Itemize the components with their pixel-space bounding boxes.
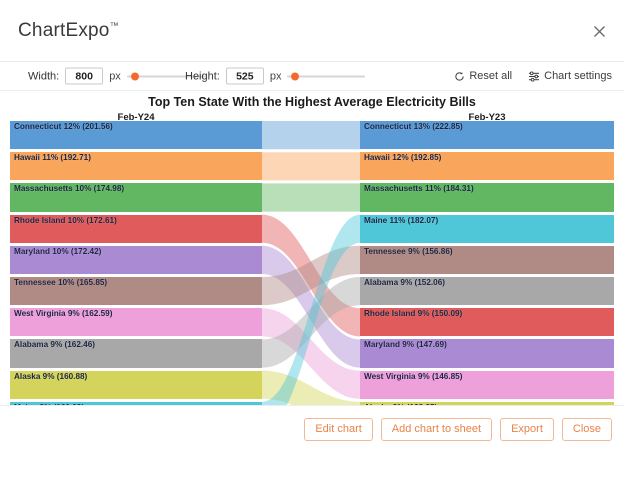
sankey-link-hawaii[interactable]: [262, 152, 360, 180]
sankey-node-label: Hawaii 12% (192.85): [364, 153, 441, 162]
edit-chart-button[interactable]: Edit chart: [304, 418, 372, 441]
height-input[interactable]: [226, 68, 264, 85]
dialog-footer: Edit chartAdd chart to sheetExportClose: [0, 405, 624, 480]
chart-canvas: Top Ten State With the Highest Average E…: [0, 91, 624, 405]
sankey-node-label: Alaska 9% (160.88): [14, 372, 87, 381]
reset-all-label: Reset all: [469, 70, 512, 82]
sankey-link-massachusetts[interactable]: [262, 183, 360, 211]
size-toolbar: Width: px Height: px: [0, 62, 624, 91]
sankey-node-label: Tennessee 10% (165.85): [14, 278, 107, 287]
chart-settings-button[interactable]: Chart settings: [528, 70, 612, 82]
sankey-link-connecticut[interactable]: [262, 121, 360, 149]
sankey-node-right-hawaii[interactable]: Hawaii 12% (192.85): [360, 152, 614, 180]
sankey-node-left-rhode-island[interactable]: Rhode Island 10% (172.61): [10, 215, 262, 243]
chart-settings-label: Chart settings: [544, 70, 612, 82]
reset-all-button[interactable]: Reset all: [454, 70, 512, 82]
dialog-titlebar: ChartExpo™: [0, 0, 624, 62]
trademark-mark: ™: [110, 21, 119, 31]
sankey-node-label: Alabama 9% (152.06): [364, 278, 445, 287]
height-label: Height:: [185, 70, 220, 82]
sankey-node-label: Connecticut 12% (201.56): [14, 122, 113, 131]
height-control-group: Height: px: [185, 68, 365, 85]
sankey-node-right-maine[interactable]: Maine 11% (182.07): [360, 215, 614, 243]
sankey-node-label: West Virginia 9% (146.85): [364, 372, 462, 381]
sankey-node-right-tennessee[interactable]: Tennessee 9% (156.86): [360, 246, 614, 274]
brand-name: ChartExpo: [18, 20, 110, 41]
sankey-node-label: Maryland 9% (147.69): [364, 340, 447, 349]
height-unit-label: px: [270, 70, 282, 82]
chartexpo-dialog: ChartExpo™ Width: px Height: px: [0, 0, 624, 480]
width-unit-label: px: [109, 70, 121, 82]
sankey-node-label: Hawaii 11% (192.71): [14, 153, 91, 162]
sankey-node-label: Maine 11% (182.07): [364, 216, 438, 225]
sankey-node-label: Connecticut 13% (222.85): [364, 122, 463, 131]
sankey-node-label: Rhode Island 9% (150.09): [364, 309, 462, 318]
sankey-node-left-alabama[interactable]: Alabama 9% (162.46): [10, 339, 262, 367]
toolbar-actions: Reset all Chart settings: [454, 70, 612, 82]
sankey-node-label: Tennessee 9% (156.86): [364, 247, 453, 256]
close-button[interactable]: Close: [562, 418, 612, 441]
sankey-node-label: Massachusetts 10% (174.98): [14, 184, 124, 193]
footer-button-group: Edit chartAdd chart to sheetExportClose: [304, 418, 612, 441]
width-label: Width:: [28, 70, 59, 82]
sankey-node-left-tennessee[interactable]: Tennessee 10% (165.85): [10, 277, 262, 305]
sankey-node-right-connecticut[interactable]: Connecticut 13% (222.85): [360, 121, 614, 149]
sankey-node-label: West Virginia 9% (162.59): [14, 309, 112, 318]
export-button[interactable]: Export: [500, 418, 554, 441]
sankey-node-right-west-virginia[interactable]: West Virginia 9% (146.85): [360, 371, 614, 399]
sankey-node-right-maryland[interactable]: Maryland 9% (147.69): [360, 339, 614, 367]
sankey-node-left-hawaii[interactable]: Hawaii 11% (192.71): [10, 152, 262, 180]
width-input[interactable]: [65, 68, 103, 85]
height-slider-knob[interactable]: [291, 72, 299, 80]
sankey-node-right-alabama[interactable]: Alabama 9% (152.06): [360, 277, 614, 305]
sankey-node-left-alaska[interactable]: Alaska 9% (160.88): [10, 371, 262, 399]
height-slider-track: [287, 75, 365, 77]
reset-icon: [454, 71, 465, 82]
sankey-node-label: Massachusetts 11% (184.31): [364, 184, 474, 193]
sankey-node-label: Alabama 9% (162.46): [14, 340, 95, 349]
sankey-node-right-massachusetts[interactable]: Massachusetts 11% (184.31): [360, 183, 614, 211]
add-chart-to-sheet-button[interactable]: Add chart to sheet: [381, 418, 492, 441]
app-brand: ChartExpo™: [18, 20, 119, 42]
sankey-node-label: Maryland 10% (172.42): [14, 247, 101, 256]
height-slider[interactable]: [287, 70, 365, 82]
sankey-node-right-rhode-island[interactable]: Rhode Island 9% (150.09): [360, 308, 614, 336]
width-slider-knob[interactable]: [131, 72, 139, 80]
sankey-node-label: Rhode Island 10% (172.61): [14, 216, 117, 225]
sliders-icon: [528, 71, 540, 82]
width-control-group: Width: px: [28, 68, 205, 85]
sankey-node-left-west-virginia[interactable]: West Virginia 9% (162.59): [10, 308, 262, 336]
close-icon[interactable]: [588, 20, 610, 42]
sankey-node-left-massachusetts[interactable]: Massachusetts 10% (174.98): [10, 183, 262, 211]
sankey-node-left-connecticut[interactable]: Connecticut 12% (201.56): [10, 121, 262, 149]
sankey-node-left-maryland[interactable]: Maryland 10% (172.42): [10, 246, 262, 274]
